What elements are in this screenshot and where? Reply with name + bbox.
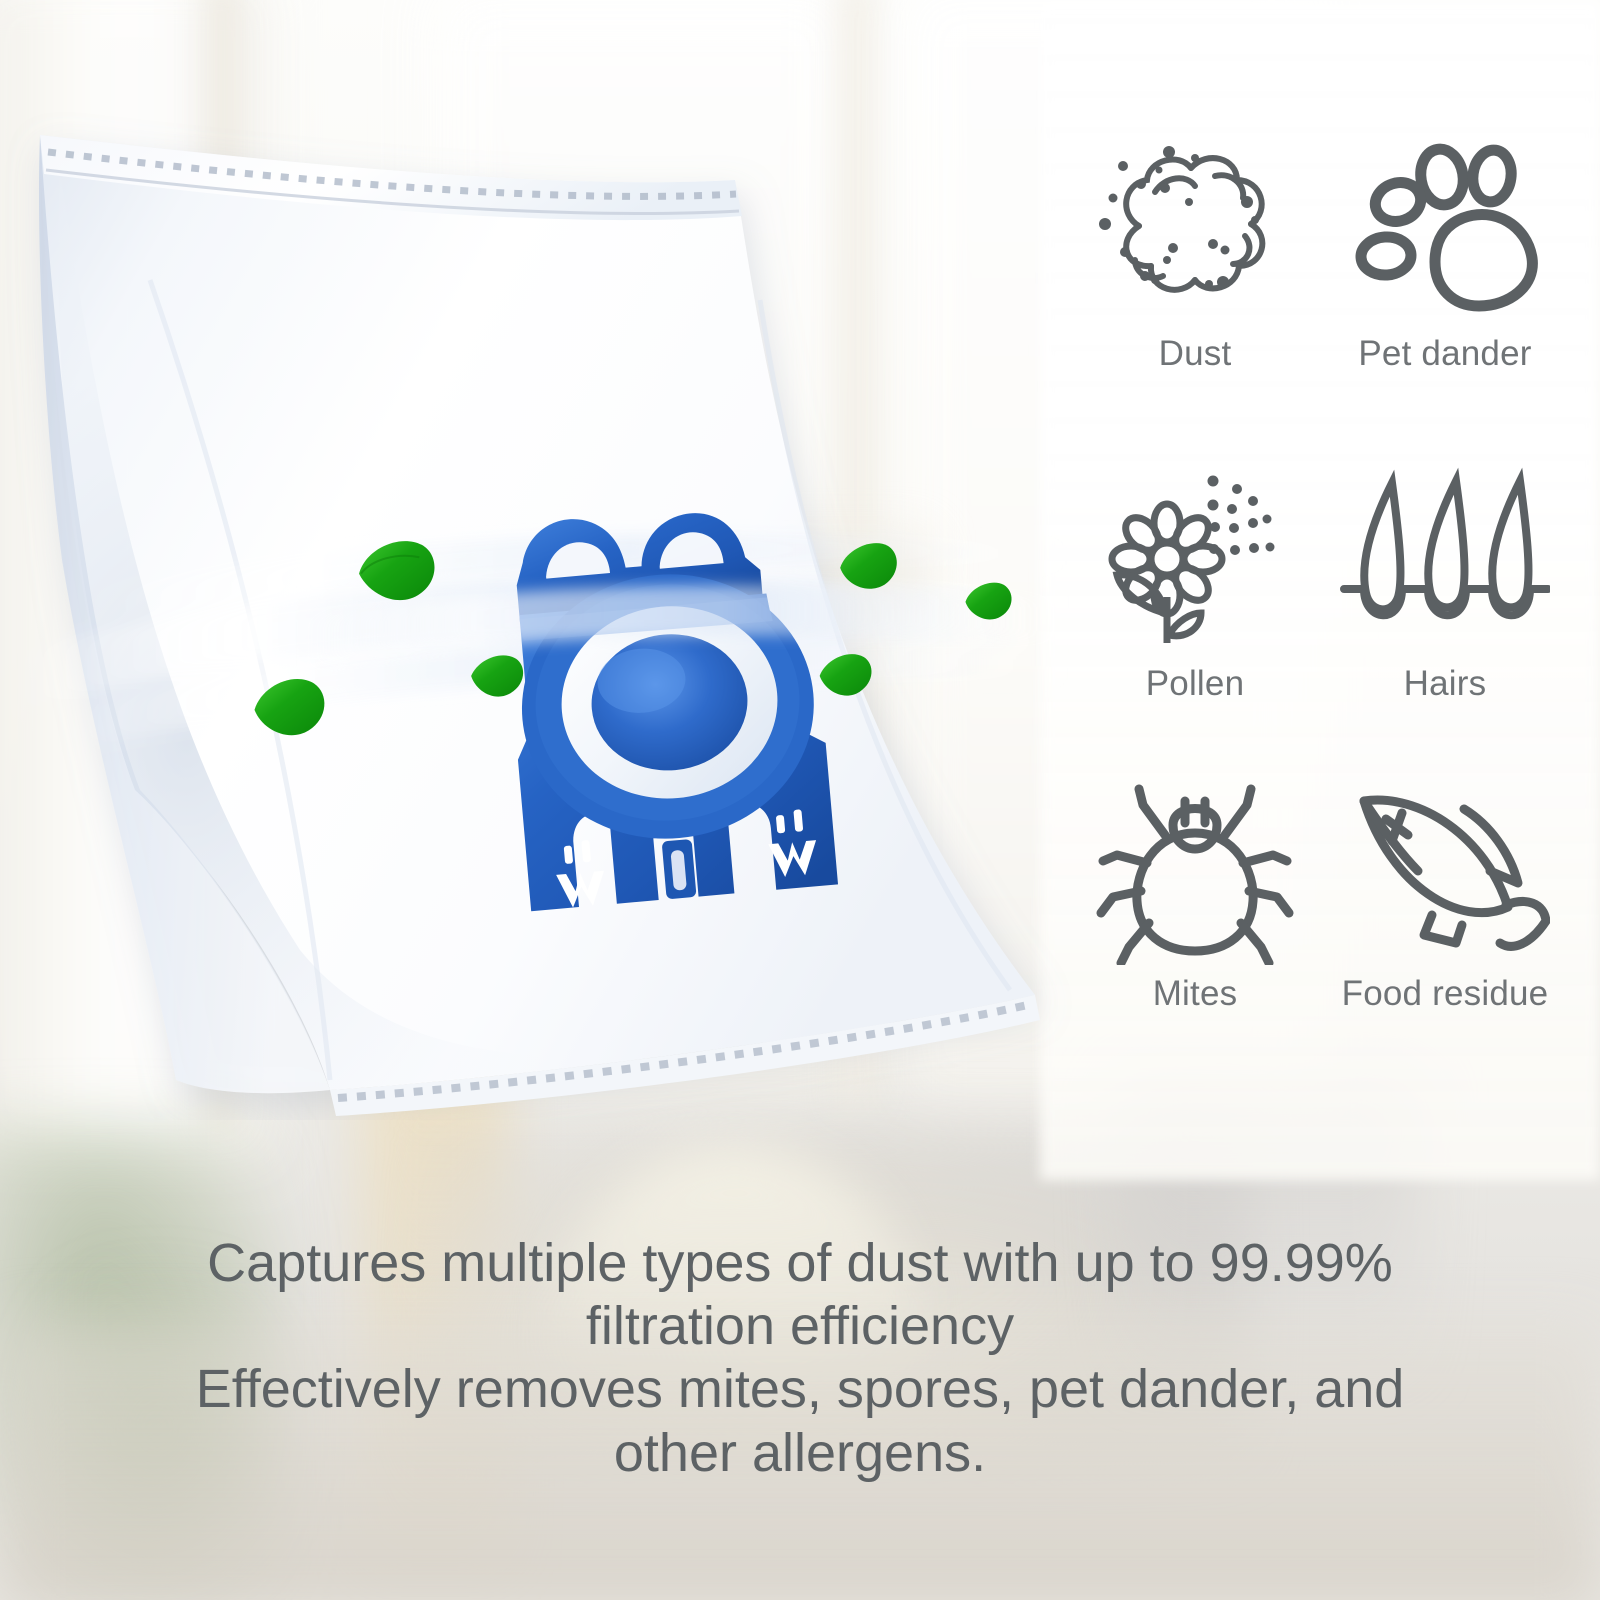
- vacuum-bag-illustration: [0, 90, 1080, 1120]
- icon-label-pet-dander: Pet dander: [1358, 334, 1531, 374]
- feature-caption: Captures multiple types of dust with up …: [60, 1232, 1540, 1485]
- hair-strands-icon: [1340, 450, 1550, 660]
- captured-particle-icon-grid: Dust Pet dander: [1070, 130, 1570, 1090]
- icon-cell-pollen: Pollen: [1070, 450, 1320, 770]
- icon-cell-hairs: Hairs: [1320, 450, 1570, 770]
- caption-line-1: Captures multiple types of dust with up …: [60, 1232, 1540, 1295]
- icon-label-dust: Dust: [1159, 334, 1232, 374]
- flower-pollen-icon: [1095, 450, 1295, 660]
- icon-cell-food-residue: Food residue: [1320, 770, 1570, 1090]
- icon-label-food-residue: Food residue: [1342, 974, 1549, 1014]
- icon-label-hairs: Hairs: [1404, 664, 1487, 704]
- paw-print-icon: [1345, 130, 1545, 330]
- caption-line-3: Effectively removes mites, spores, pet d…: [60, 1358, 1540, 1421]
- icon-cell-pet-dander: Pet dander: [1320, 130, 1570, 450]
- icon-label-mites: Mites: [1153, 974, 1238, 1014]
- icon-label-pollen: Pollen: [1146, 664, 1245, 704]
- caption-line-2: filtration efficiency: [60, 1295, 1540, 1358]
- dust-cloud-icon: [1095, 130, 1295, 330]
- caption-line-4: other allergens.: [60, 1422, 1540, 1485]
- icon-cell-dust: Dust: [1070, 130, 1320, 450]
- product-feature-image: Dust Pet dander: [0, 0, 1600, 1600]
- fish-bone-icon: [1340, 770, 1550, 970]
- dust-mite-icon: [1095, 770, 1295, 970]
- icon-cell-mites: Mites: [1070, 770, 1320, 1090]
